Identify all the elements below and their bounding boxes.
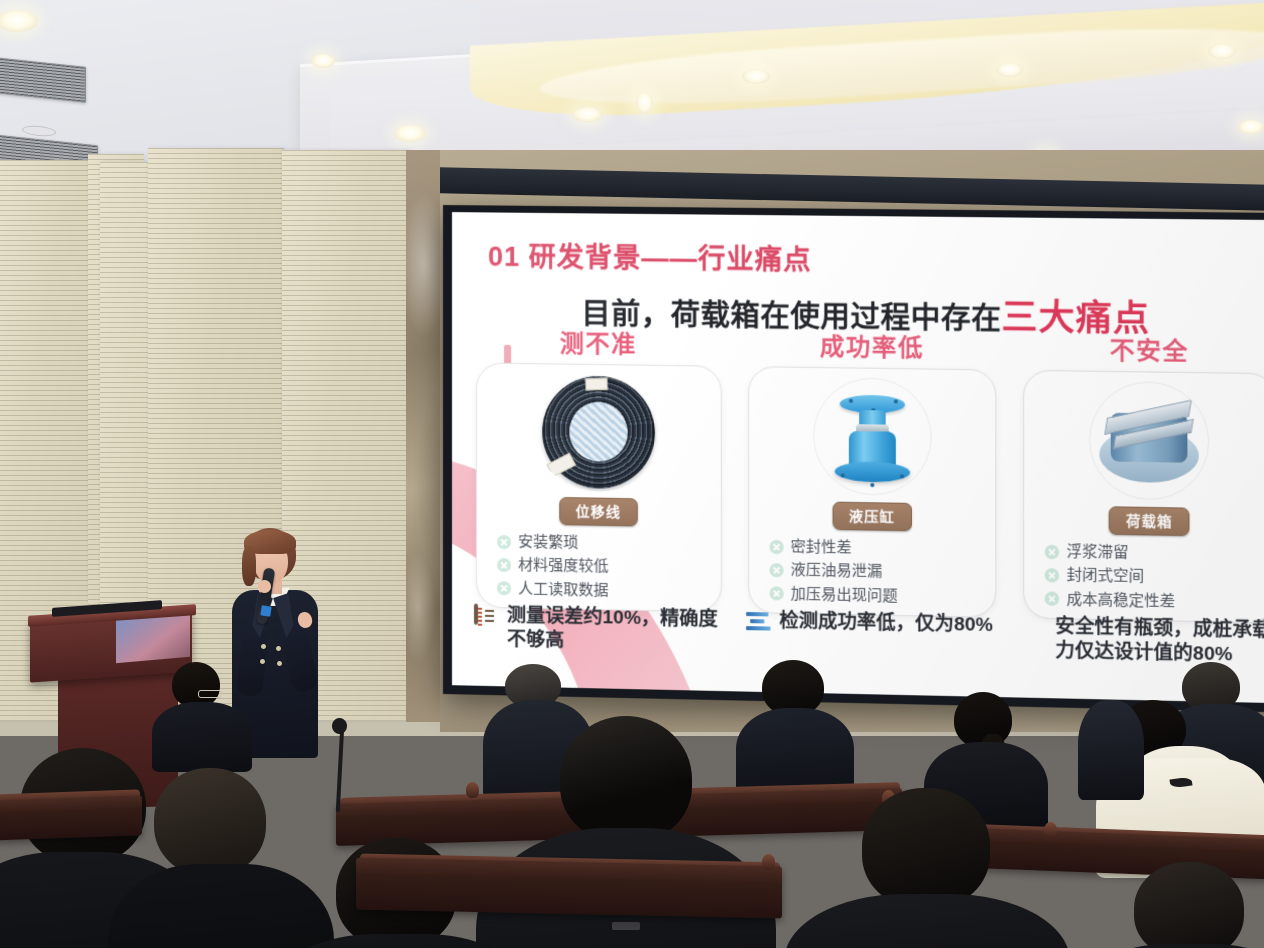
cross-circle-icon (497, 535, 511, 549)
bullet-label: 封闭式空间 (1067, 564, 1145, 589)
recessed-downlight (996, 63, 1023, 77)
blazer-button (276, 646, 281, 651)
presentation-screen: 01 研发背景——行业痛点 目前，荷载箱在使用过程中存在三大痛点 测不准 (443, 205, 1264, 713)
cross-circle-icon (769, 539, 783, 553)
conference-photo-scene: 01 研发背景——行业痛点 目前，荷载箱在使用过程中存在三大痛点 测不准 (0, 0, 1264, 948)
jacket-collar-tag (612, 922, 640, 930)
shield-check-icon (1021, 616, 1048, 643)
cross-circle-icon (497, 558, 511, 572)
person-head (1134, 862, 1244, 948)
component-chip-label: 位移线 (559, 497, 638, 526)
cylinder-base-flange (834, 461, 910, 482)
conclusion-text: 测量误差约10%，精确度不够高 (507, 604, 729, 656)
presenter-hand-holding-mic (258, 580, 271, 593)
wooden-bench-row (356, 858, 782, 919)
bullet-item: 成本高稳定性差 (1045, 587, 1264, 615)
cable-coil-graphic (542, 375, 655, 489)
bullet-item: 人工读取数据 (497, 577, 720, 605)
blazer-button (277, 661, 282, 666)
hydraulic-cylinder-photo (807, 376, 938, 497)
cross-circle-icon (769, 563, 783, 577)
flange-bolt (899, 474, 903, 478)
blazer-button (261, 644, 266, 649)
load-cell-box-photo (1083, 380, 1216, 502)
recessed-downlight (1208, 44, 1236, 59)
slide-content: 01 研发背景——行业痛点 目前，荷载箱在使用过程中存在三大痛点 测不准 (452, 212, 1264, 703)
column-heading: 不安全 (1015, 329, 1264, 368)
conclusion-text: 检测成功率低，仅为80% (779, 610, 993, 638)
person-torso (1080, 944, 1264, 948)
cross-circle-icon (1045, 544, 1059, 558)
bullet-label: 安装繁琐 (518, 530, 578, 554)
blazer-button (260, 659, 265, 664)
eyeglasses (198, 690, 222, 698)
recessed-downlight (311, 54, 335, 68)
cross-circle-icon (769, 586, 783, 600)
conclusion-text: 安全性有瓶颈，成桩承载力仅达设计值的80% (1055, 615, 1264, 668)
recessed-downlight (394, 125, 426, 142)
conclusion-item: 测量误差约10%，精确度不够高 (468, 603, 730, 685)
person-head (862, 788, 990, 908)
bullet-label: 液压油易泄漏 (790, 559, 882, 584)
person-head (560, 716, 692, 842)
flange-bolt (848, 399, 852, 403)
microphone-head (332, 718, 347, 734)
bullet-label: 密封性差 (790, 535, 851, 560)
bullet-list: 浮浆滞留 封闭式空间 成本高稳定性差 (1024, 537, 1264, 615)
load-cell-box-graphic (1089, 381, 1209, 501)
recessed-downlight (572, 107, 603, 122)
column-heading: 成功率低 (740, 326, 1005, 365)
person-torso (1078, 700, 1144, 800)
displacement-wire-coil-photo (534, 372, 663, 492)
recessed-downlight (636, 92, 653, 114)
bench-knob (466, 782, 479, 798)
flange-bolt (840, 473, 844, 477)
component-chip-label: 荷载箱 (1109, 506, 1190, 536)
presenter-hair-side (242, 546, 256, 586)
cable-label-tag (546, 453, 576, 477)
component-chip-label: 液压缸 (832, 502, 912, 532)
cross-circle-icon (1045, 568, 1059, 582)
bullet-item: 加压易出现问题 (769, 582, 996, 610)
screen-display-area: 01 研发背景——行业痛点 目前，荷载箱在使用过程中存在三大痛点 测不准 (452, 212, 1264, 703)
flange-bolt (870, 483, 874, 487)
person-torso (152, 702, 252, 772)
bullet-label: 加压易出现问题 (790, 582, 897, 608)
microphone-flag-badge (260, 605, 271, 616)
bullet-label: 材料强度较低 (518, 554, 609, 579)
recessed-downlight (1238, 120, 1264, 134)
cross-circle-icon (497, 581, 511, 595)
slide-title: 01 研发背景——行业痛点 (488, 234, 812, 277)
flange-bolt (893, 399, 897, 403)
bullet-label: 人工读取数据 (518, 577, 609, 602)
document-ruler-icon (474, 606, 500, 633)
bench-knob (762, 854, 775, 870)
bullet-list: 安装繁琐 材料强度较低 人工读取数据 (477, 528, 720, 605)
bullet-list: 密封性差 液压油易泄漏 加压易出现问题 (749, 532, 996, 609)
bullet-label: 浮浆滞留 (1067, 540, 1129, 565)
bench-knob (1044, 822, 1057, 838)
bullet-label: 成本高稳定性差 (1067, 587, 1176, 613)
pain-point-card: 位移线 安装繁琐 材料强度较低 (476, 362, 721, 612)
recessed-downlight (742, 69, 770, 84)
cross-circle-icon (1045, 592, 1059, 606)
bar-chart-icon (746, 611, 772, 638)
person-head (154, 768, 266, 876)
cable-label-tag (585, 378, 608, 391)
wooden-bench-row (0, 795, 142, 840)
column-heading: 测不准 (468, 322, 730, 361)
person-torso (784, 894, 1070, 948)
pain-point-card: 荷载箱 浮浆滞留 封闭式空间 (1023, 370, 1264, 624)
pain-point-card: 液压缸 密封性差 液压油易泄漏 (748, 366, 997, 618)
hydraulic-cylinder-graphic (813, 377, 931, 496)
